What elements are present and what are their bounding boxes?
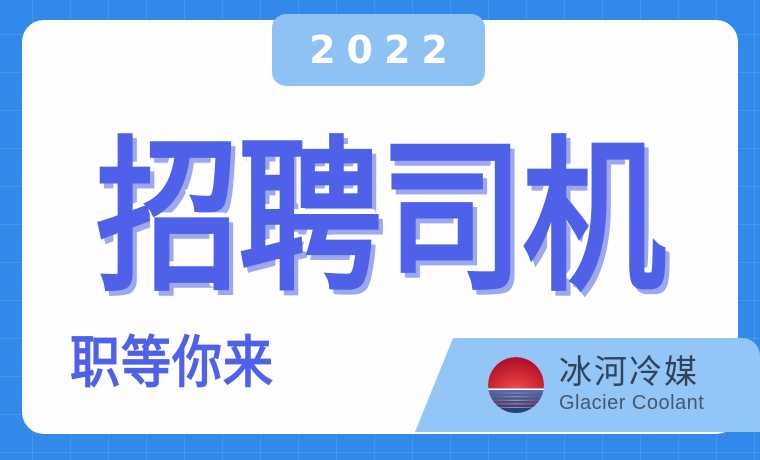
subtitle: 职等你来 [70, 338, 274, 388]
year-badge: 2022 [272, 14, 485, 86]
headline: 招聘司机 [0, 126, 760, 311]
year-badge-label: 2022 [298, 31, 459, 69]
headline-text: 招聘司机 [96, 136, 664, 302]
sun-over-waves-logo-icon [487, 356, 545, 414]
brand-name-english: Glacier Coolant [559, 391, 704, 415]
brand-name-chinese: 冰河冷媒 [559, 355, 704, 390]
subtitle-text: 职等你来 [70, 335, 274, 391]
brand-text-block: 冰河冷媒 Glacier Coolant [559, 355, 704, 416]
brand-panel: 冰河冷媒 Glacier Coolant [415, 338, 760, 432]
recruitment-poster: 2022 招聘司机 职等你来 [0, 0, 760, 460]
